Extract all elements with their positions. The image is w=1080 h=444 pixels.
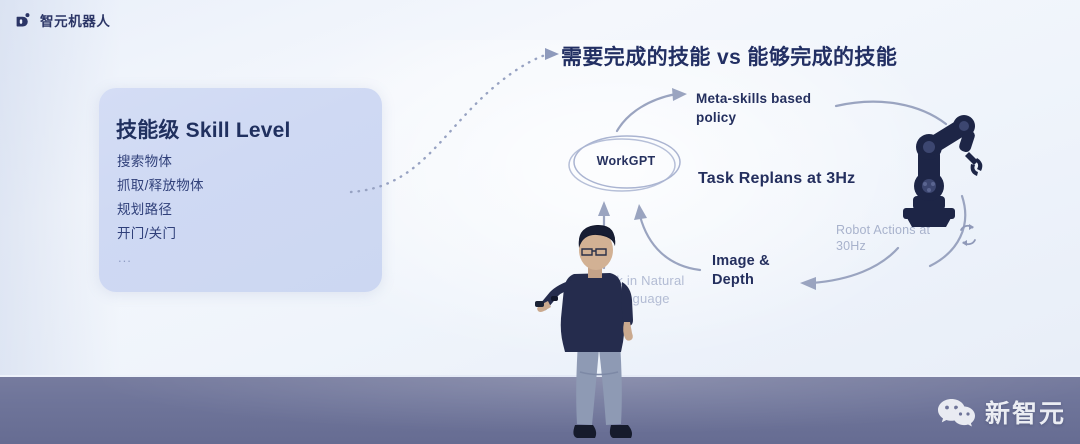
aigibot-logo-icon bbox=[14, 11, 33, 30]
slide-headline: 需要完成的技能 vs 能够完成的技能 bbox=[561, 41, 897, 71]
skill-list: 搜索物体 抓取/释放物体 规划路径 开门/关门 bbox=[117, 150, 204, 246]
brand-logo: 智元机器人 bbox=[14, 10, 111, 30]
list-item: 规划路径 bbox=[117, 198, 204, 222]
skill-list-ellipsis: ... bbox=[118, 250, 132, 265]
presenter bbox=[534, 222, 656, 444]
skill-level-card: 技能级 Skill Level 搜索物体 抓取/释放物体 规划路径 开门/关门 … bbox=[99, 88, 382, 292]
watermark-text: 新智元 bbox=[985, 394, 1066, 430]
workgpt-label: WorkGPT bbox=[578, 154, 674, 168]
brand-name: 智元机器人 bbox=[40, 10, 111, 30]
robot-arm-icon bbox=[885, 100, 990, 230]
list-item: 抓取/释放物体 bbox=[117, 174, 204, 198]
watermark: 新智元 bbox=[937, 394, 1066, 430]
skill-card-title: 技能级 Skill Level bbox=[116, 114, 291, 144]
list-item: 开门/关门 bbox=[117, 222, 204, 246]
list-item: 搜索物体 bbox=[117, 150, 204, 174]
task-replans-label: Task Replans at 3Hz bbox=[698, 170, 855, 188]
wechat-icon bbox=[937, 397, 977, 427]
image-depth-label: Image & Depth bbox=[712, 252, 802, 290]
meta-skills-label: Meta-skills based policy bbox=[696, 89, 821, 127]
presentation-screenshot: 智元机器人 技能级 Skill Level 搜索物体 抓取/释放物体 规划路径 … bbox=[0, 0, 1080, 444]
